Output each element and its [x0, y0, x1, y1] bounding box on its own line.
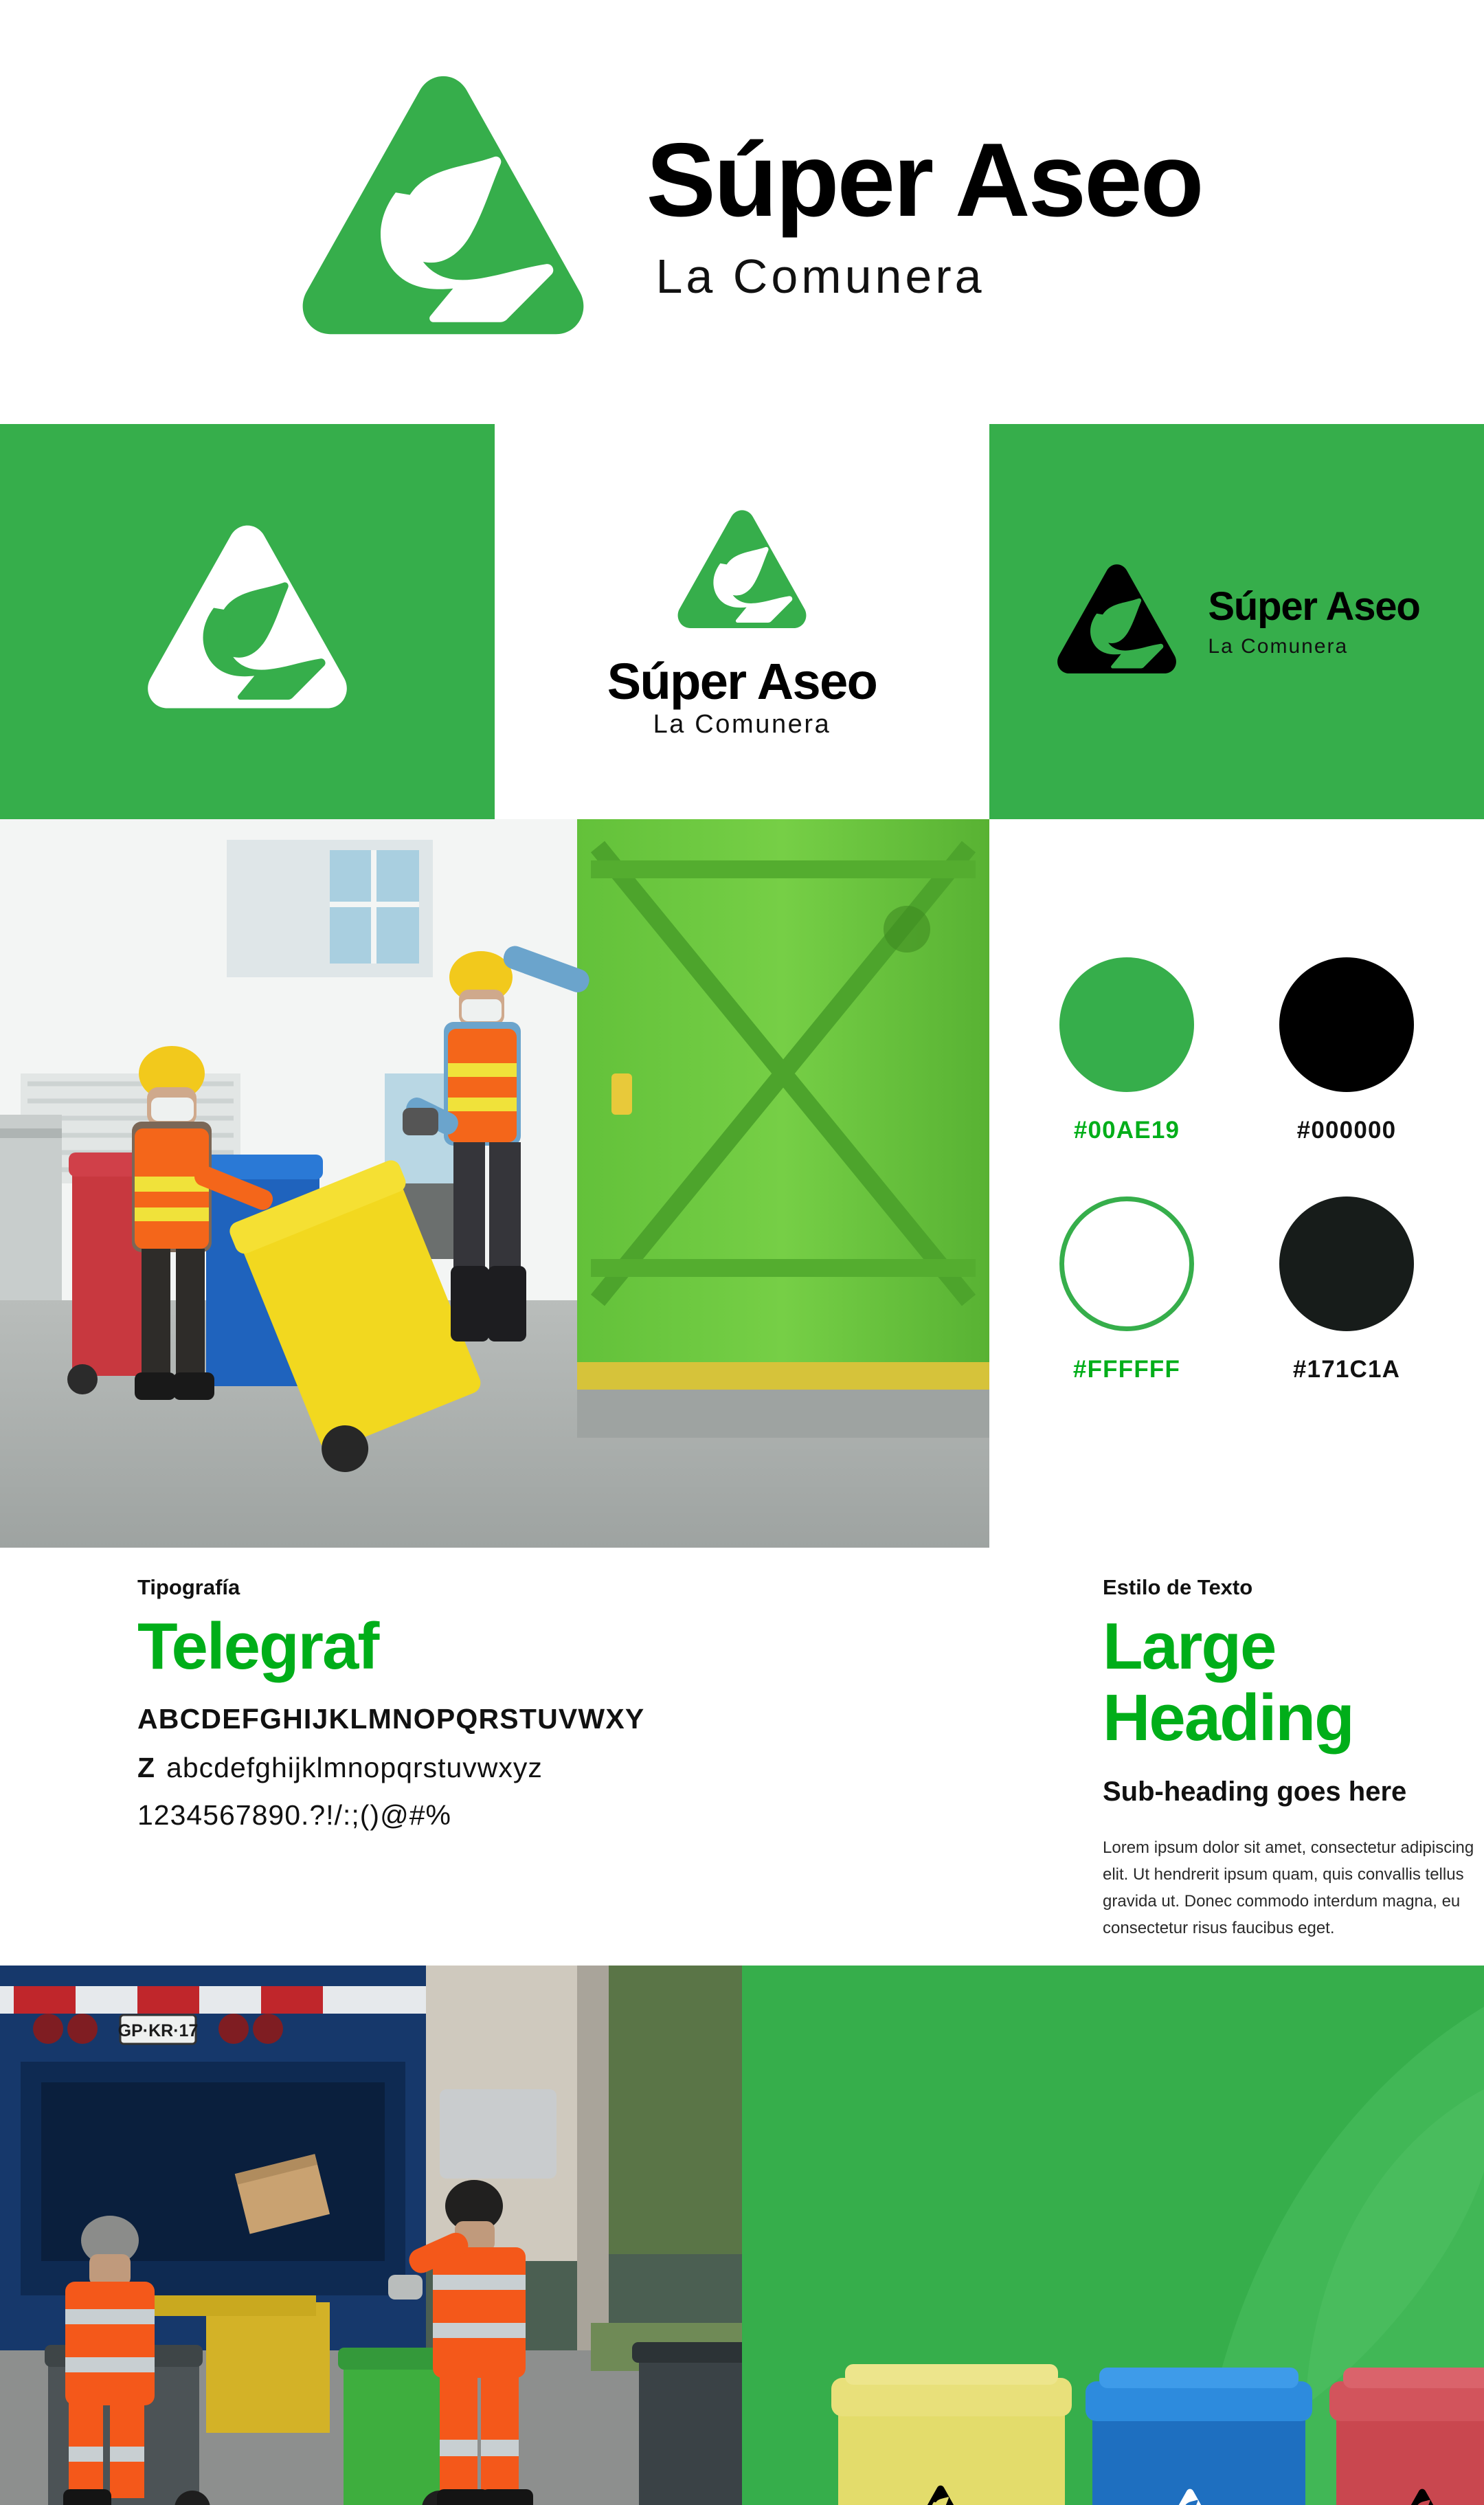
typography-band: Tipografía Telegraf ABCDEFGHIJKLMNOPQRST… [0, 1548, 1484, 1966]
swatch-dot-ink [1279, 1196, 1414, 1331]
leaf-triangle-logo-icon [673, 506, 811, 638]
color-palette: #00AE19 #000000 #FFFFFF #171C1A [989, 819, 1484, 1548]
logo-variant-horizontal-black-on-green: Súper Aseo La Comunera [989, 424, 1484, 819]
color-swatch: #FFFFFF [1027, 1196, 1226, 1430]
bottom-imagery-band: GP·KR·17 [0, 1966, 1484, 2505]
color-swatch: #000000 [1247, 957, 1446, 1191]
svg-text:GP·KR·17: GP·KR·17 [118, 2021, 199, 2040]
bin-blue: Súper Aseo La Comunera [1086, 2368, 1312, 2505]
swatch-hex-label: #FFFFFF [1073, 1356, 1180, 1383]
swatch-dot-green [1059, 957, 1194, 1092]
color-swatch: #171C1A [1247, 1196, 1446, 1430]
photo-and-palette-band: #00AE19 #000000 #FFFFFF #171C1A [0, 819, 1484, 1548]
variant-brand-tagline: La Comunera [653, 711, 831, 737]
hero-photo-workers-loading-truck [0, 819, 989, 1548]
large-heading-sample: Large Heading [1103, 1611, 1484, 1753]
text-styles-column: Estilo de Texto Large Heading Sub-headin… [395, 1575, 1484, 1966]
leaf-triangle-logo-icon [141, 519, 354, 725]
header-wordmark: Súper Aseo La Comunera [646, 120, 1202, 304]
bin-red: Súper Aseo La Comunera [1329, 2368, 1484, 2505]
swatch-dot-black [1279, 957, 1414, 1092]
logo-variant-white-on-green [0, 424, 495, 819]
logo-variant-stacked-on-white: Súper Aseo La Comunera [495, 424, 989, 819]
logo-variants-band: Súper Aseo La Comunera Súper Aseo La Com… [0, 424, 1484, 819]
primary-logo-mark [282, 68, 605, 357]
text-styles-eyebrow: Estilo de Texto [1103, 1575, 1484, 1600]
bins-mockup-panel: Súper Aseo La Comunera Súper Aseo La Com… [742, 1966, 1484, 2505]
leaf-triangle-logo-icon [282, 68, 605, 357]
swatch-dot-white [1059, 1196, 1194, 1331]
leaf-triangle-logo-icon [1053, 561, 1180, 683]
crew-photo-blue-truck: GP·KR·17 [0, 1966, 742, 2505]
swatch-hex-label: #000000 [1297, 1117, 1397, 1144]
color-swatch: #00AE19 [1027, 957, 1226, 1191]
variant-brand-name: Súper Aseo [1208, 587, 1419, 627]
lowercase-specimen-prefix: Z [137, 1752, 155, 1783]
variant-brand-name: Súper Aseo [607, 656, 877, 707]
swatch-hex-label: #171C1A [1293, 1356, 1400, 1383]
brand-tagline: La Comunera [655, 249, 985, 304]
variant-brand-tagline: La Comunera [1208, 636, 1348, 657]
header-lockup: Súper Aseo La Comunera [0, 0, 1484, 424]
brand-name: Súper Aseo [646, 127, 1202, 234]
brand-guidelines-page: Súper Aseo La Comunera Súper Aseo La Com… [0, 0, 1484, 2505]
swatch-hex-label: #00AE19 [1074, 1117, 1180, 1144]
bin-yellow: Súper Aseo La Comunera [831, 2364, 1072, 2505]
sub-heading-sample: Sub-heading goes here [1103, 1777, 1484, 1807]
body-copy-sample: Lorem ipsum dolor sit amet, consectetur … [1103, 1835, 1484, 1942]
